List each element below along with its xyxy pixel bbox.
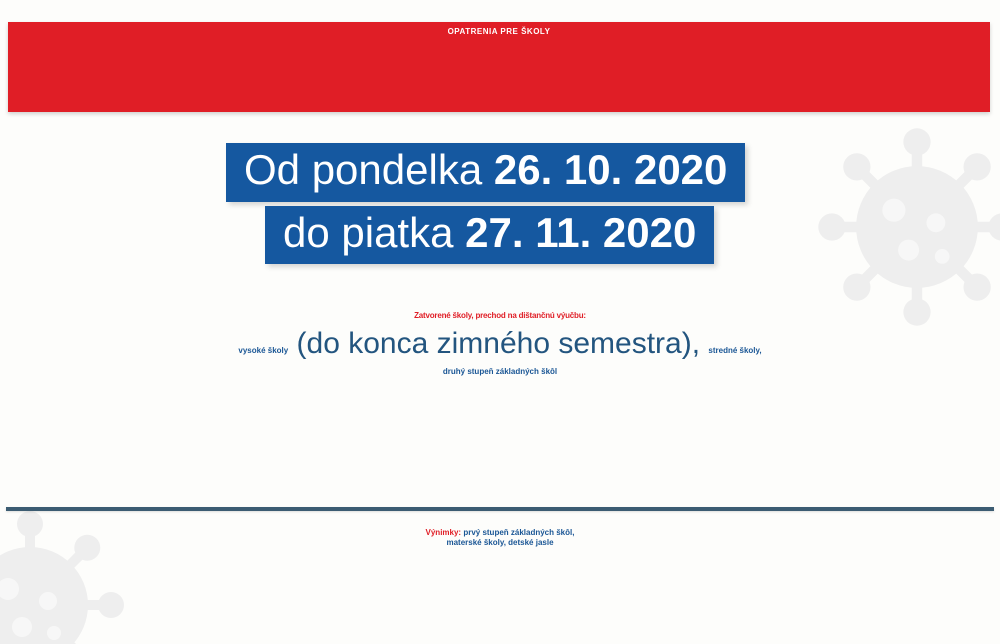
closed-schools-section: Zatvorené školy, prechod na dištančnú vý… bbox=[0, 312, 1000, 378]
closed-schools-line-1: vysoké školy (do konca zimného semestra)… bbox=[0, 325, 1000, 363]
date-from-prefix: Od pondelka bbox=[244, 146, 494, 193]
closed-schools-line-2: druhý stupeň základných škôl bbox=[0, 367, 1000, 377]
closed-secondary-label: stredné školy, bbox=[708, 346, 761, 355]
closed-universities-note: (do konca zimného semestra), bbox=[288, 327, 708, 360]
exceptions-line-1: Výnimky: prvý stupeň základných škôl, bbox=[0, 528, 1000, 538]
date-range-block: Od pondelka 26. 10. 2020 do piatka 27. 1… bbox=[0, 143, 1000, 264]
exceptions-line-2: materské školy, detské jasle bbox=[0, 538, 1000, 548]
section-divider bbox=[6, 507, 994, 511]
closed-schools-heading: Zatvorené školy, prechod na dištančnú vý… bbox=[0, 312, 1000, 321]
date-from-value: 26. 10. 2020 bbox=[494, 146, 728, 193]
header-banner: OPATRENIA PRE ŠKOLY bbox=[8, 22, 990, 112]
date-to-value: 27. 11. 2020 bbox=[465, 209, 696, 256]
exceptions-label: Výnimky: bbox=[426, 528, 462, 537]
page-title: OPATRENIA PRE ŠKOLY bbox=[8, 28, 990, 36]
exceptions-line-1-text: prvý stupeň základných škôl, bbox=[461, 528, 574, 537]
date-to-prefix: do piatka bbox=[283, 209, 465, 256]
coronavirus-watermark-left bbox=[0, 505, 130, 644]
poster-root: OPATRENIA PRE ŠKOLY Od pondelka 26. 10. … bbox=[0, 0, 1000, 644]
exceptions-section: Výnimky: prvý stupeň základných škôl, ma… bbox=[0, 528, 1000, 549]
date-from-box: Od pondelka 26. 10. 2020 bbox=[226, 143, 745, 202]
closed-universities-label: vysoké školy bbox=[238, 346, 288, 355]
date-to-box: do piatka 27. 11. 2020 bbox=[265, 206, 714, 265]
